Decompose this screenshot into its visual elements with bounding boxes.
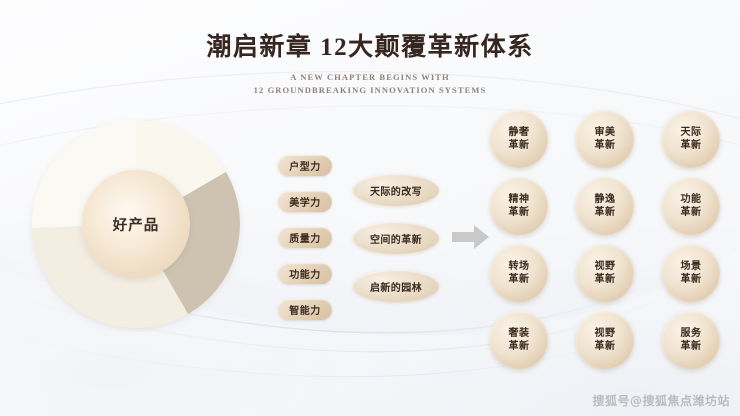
innovation-node-7[interactable]: 转场 革新: [490, 244, 548, 302]
innovation-node-2[interactable]: 审美 革新: [576, 110, 634, 168]
innovation-node-line1: 视野: [595, 260, 616, 273]
theme-oval-label: 空间的革新: [370, 231, 422, 246]
theme-oval-1[interactable]: 天际的改写: [353, 174, 439, 206]
innovation-node-1[interactable]: 静奢 革新: [490, 110, 548, 168]
capability-pill-label: 智能力: [289, 302, 321, 317]
innovation-node-line2: 革新: [681, 340, 702, 353]
innovation-node-line1: 服务: [681, 327, 702, 340]
innovation-node-5[interactable]: 静逸 革新: [576, 177, 634, 235]
theme-oval-3[interactable]: 启新的园林: [353, 270, 439, 302]
innovation-node-line1: 转场: [509, 260, 530, 273]
capability-pill-label: 户型力: [289, 158, 321, 173]
innovation-node-line1: 天际: [681, 126, 702, 139]
watermark: 搜狐号@搜狐焦点潍坊站: [540, 392, 730, 409]
innovation-node-6[interactable]: 功能 革新: [662, 177, 720, 235]
theme-oval-2[interactable]: 空间的革新: [353, 222, 439, 254]
innovation-node-line1: 精神: [509, 193, 530, 206]
capability-pill-5[interactable]: 智能力: [278, 299, 332, 320]
capability-pill-2[interactable]: 美学力: [278, 191, 332, 212]
innovation-node-line2: 革新: [681, 273, 702, 286]
innovation-node-line1: 奢装: [509, 327, 530, 340]
innovation-node-line2: 革新: [681, 139, 702, 152]
innovation-node-line2: 革新: [681, 206, 702, 219]
header: 潮启新章 12大颠覆革新体系 A NEW CHAPTER BEGINS WITH…: [0, 34, 740, 95]
capability-pill-label: 质量力: [289, 230, 321, 245]
capability-pill-4[interactable]: 功能力: [278, 263, 332, 284]
capability-pill-1[interactable]: 户型力: [278, 155, 332, 176]
capability-pill-label: 功能力: [289, 266, 321, 281]
innovation-node-line1: 视野: [595, 327, 616, 340]
capability-pill-3[interactable]: 质量力: [278, 227, 332, 248]
theme-oval-label: 天际的改写: [370, 183, 422, 198]
innovation-node-line2: 革新: [595, 206, 616, 219]
innovation-node-line2: 革新: [509, 273, 530, 286]
innovation-node-3[interactable]: 天际 革新: [662, 110, 720, 168]
innovation-node-4[interactable]: 精神 革新: [490, 177, 548, 235]
subtitle-line-1: A NEW CHAPTER BEGINS WITH: [0, 72, 740, 82]
innovation-grid: 静奢 革新 审美 革新 天际 革新 精神 革新 静逸 革新 功能 革新 转场 革…: [490, 110, 720, 368]
product-donut-diagram: 好产品: [28, 116, 244, 332]
innovation-node-line1: 审美: [595, 126, 616, 139]
innovation-node-line1: 场景: [681, 260, 702, 273]
innovation-node-12[interactable]: 服务 革新: [662, 311, 720, 369]
theme-oval-label: 启新的园林: [370, 279, 422, 294]
innovation-node-line1: 功能: [681, 193, 702, 206]
donut-core-label: 好产品: [113, 214, 160, 235]
innovation-node-10[interactable]: 奢装 革新: [490, 311, 548, 369]
slide-canvas: 潮启新章 12大颠覆革新体系 A NEW CHAPTER BEGINS WITH…: [0, 0, 740, 416]
innovation-node-9[interactable]: 场景 革新: [662, 244, 720, 302]
arrow-right-icon: [452, 224, 490, 250]
innovation-node-line2: 革新: [595, 340, 616, 353]
innovation-node-line1: 静逸: [595, 193, 616, 206]
donut-core: 好产品: [82, 170, 190, 278]
capability-pill-label: 美学力: [289, 194, 321, 209]
innovation-node-line2: 革新: [595, 273, 616, 286]
innovation-node-line2: 革新: [509, 139, 530, 152]
subtitle-line-2: 12 GROUNDBREAKING INNOVATION SYSTEMS: [0, 85, 740, 95]
innovation-node-line2: 革新: [595, 139, 616, 152]
innovation-node-8[interactable]: 视野 革新: [576, 244, 634, 302]
innovation-node-11[interactable]: 视野 革新: [576, 311, 634, 369]
innovation-node-line2: 革新: [509, 340, 530, 353]
page-title: 潮启新章 12大颠覆革新体系: [0, 34, 740, 63]
innovation-node-line2: 革新: [509, 206, 530, 219]
innovation-node-line1: 静奢: [509, 126, 530, 139]
